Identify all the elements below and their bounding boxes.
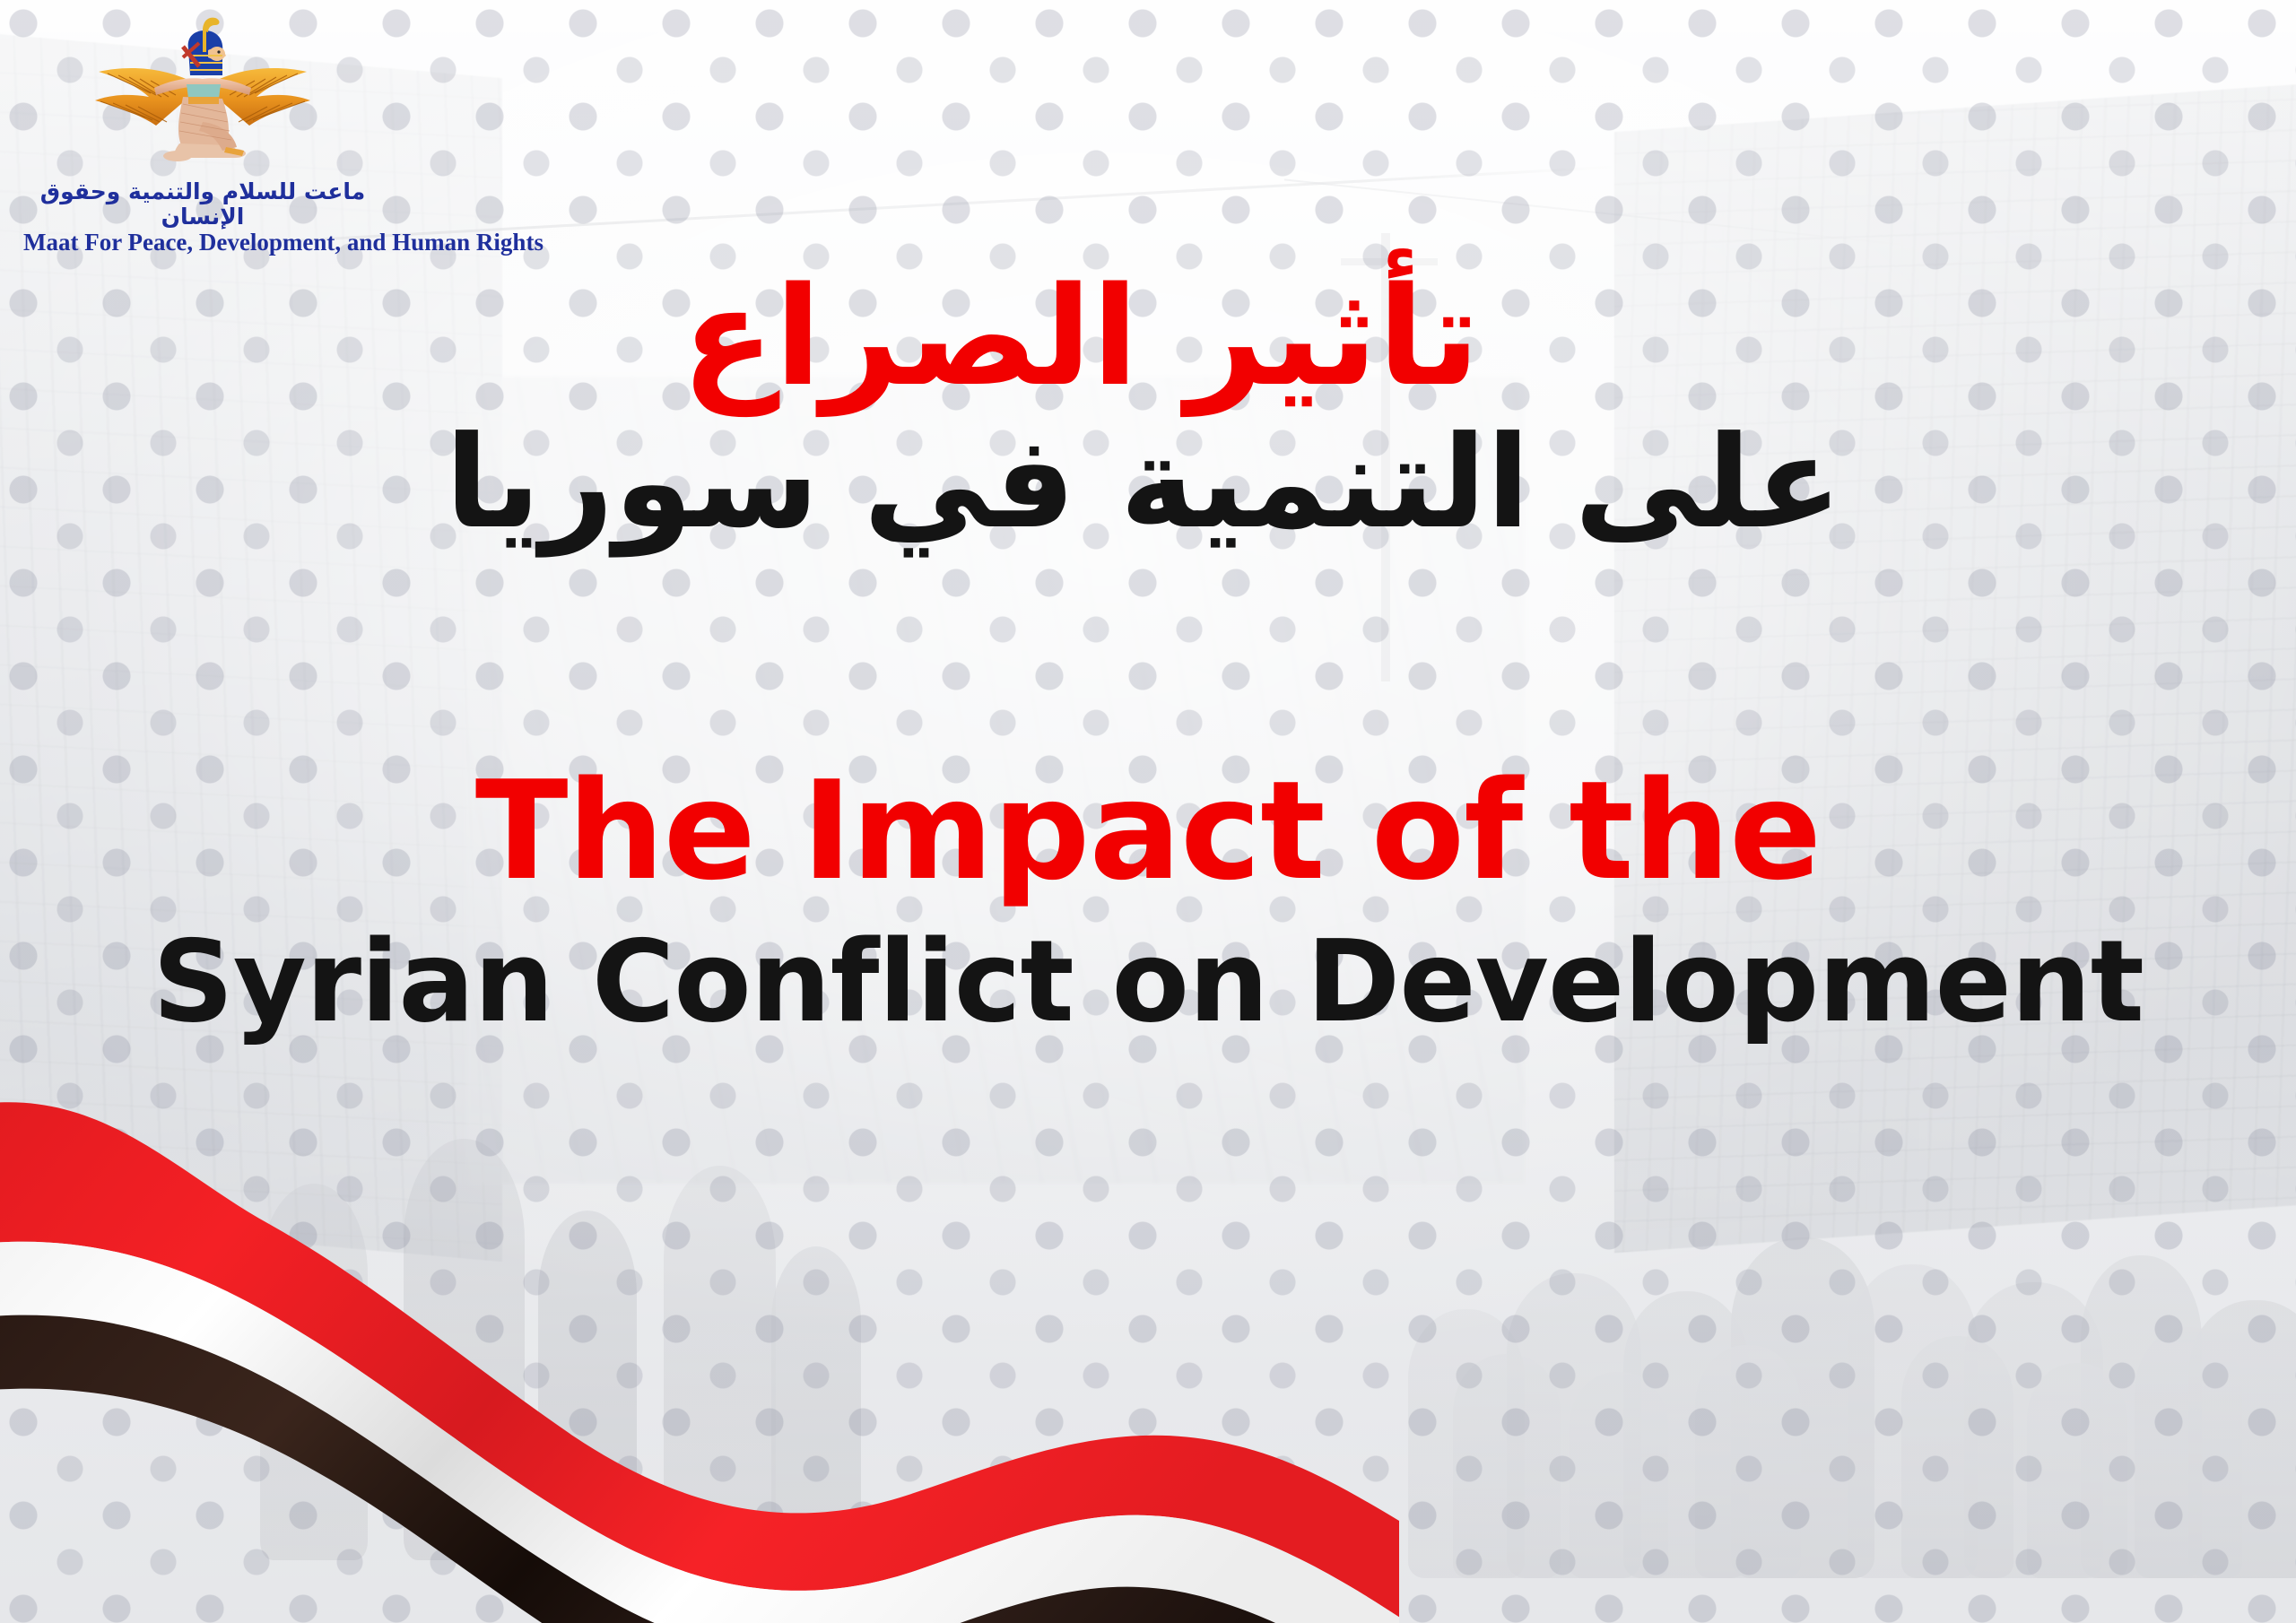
logo-english-name: Maat For Peace, Development, and Human R… <box>23 230 382 255</box>
organization-logo: ماعت للسلام والتنمية وحقوق الإنسان Maat … <box>23 16 382 255</box>
title-arabic-line-1: تأثير الصراع <box>0 269 2296 405</box>
winged-maat-goddess-icon <box>68 16 337 178</box>
report-cover: ماعت للسلام والتنمية وحقوق الإنسان Maat … <box>0 0 2296 1623</box>
title-block: تأثير الصراع على التنمية في سوريا The Im… <box>0 269 2296 1041</box>
title-english-line-2: Syrian Conflict on Development <box>0 923 2296 1041</box>
logo-arabic-name: ماعت للسلام والتنمية وحقوق الإنسان <box>23 179 382 229</box>
title-english-line-1: The Impact of the <box>0 763 2296 899</box>
title-arabic-line-2: على التنمية في سوريا <box>0 416 2296 550</box>
